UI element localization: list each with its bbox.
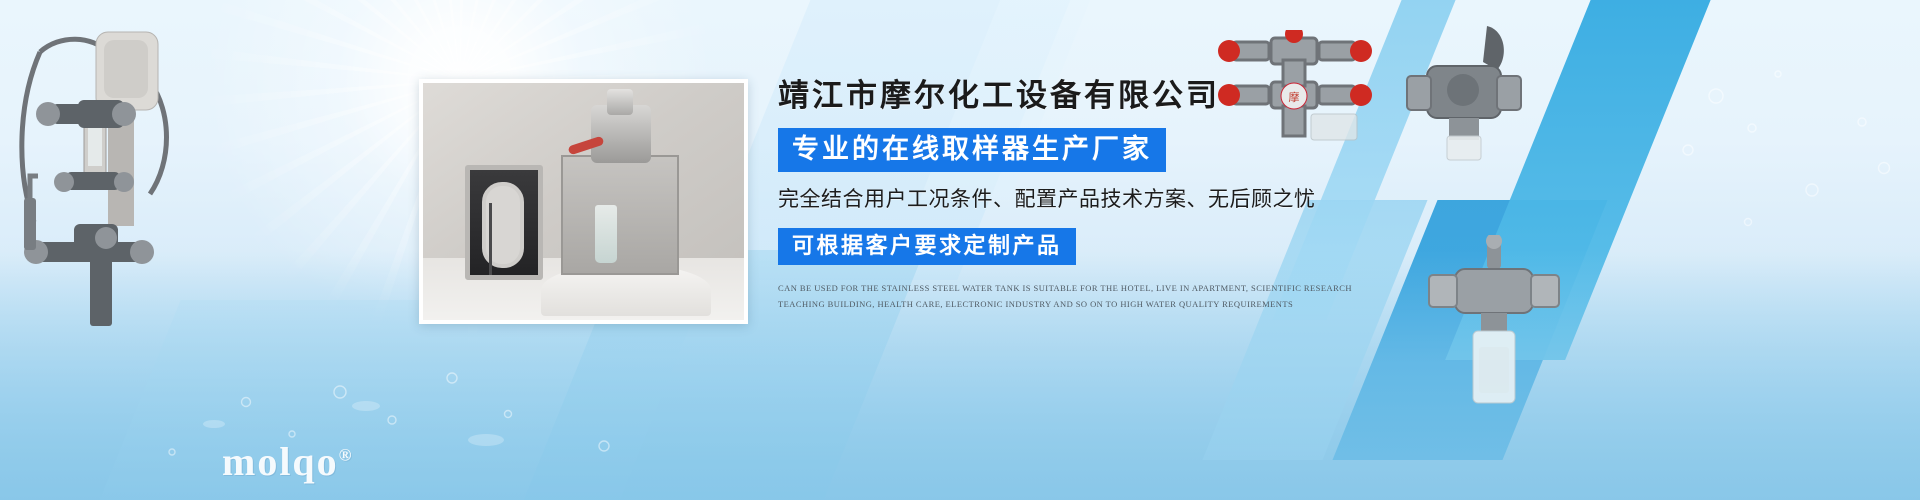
promo-banner: 摩 靖江市摩尔化工设备有限公司 专业的在线取样器生产厂家 完全结合用户工况条件、… — [0, 0, 1920, 500]
decor-stripe-wash-1 — [59, 300, 700, 500]
right-upper-valve-image — [1405, 22, 1535, 162]
watermark-text: molqo — [222, 439, 339, 484]
english-description: CAN BE USED FOR THE STAINLESS STEEL WATE… — [778, 281, 1378, 312]
left-device-image — [0, 12, 210, 332]
company-name: 靖江市摩尔化工设备有限公司 — [778, 78, 1418, 114]
watermark-logo: molqo® — [222, 438, 353, 485]
product-photo — [419, 79, 748, 324]
watermark-registered-mark: ® — [339, 446, 354, 465]
right-lower-valve-image — [1425, 235, 1565, 410]
banner-copy: 靖江市摩尔化工设备有限公司 专业的在线取样器生产厂家 完全结合用户工况条件、配置… — [778, 78, 1418, 312]
headline-badge: 专业的在线取样器生产厂家 — [778, 128, 1166, 172]
decor-stripe-blue-2 — [1445, 0, 1735, 360]
tagline-badge: 可根据客户要求定制产品 — [778, 228, 1076, 265]
subline-text: 完全结合用户工况条件、配置产品技术方案、无后顾之忧 — [778, 186, 1418, 213]
